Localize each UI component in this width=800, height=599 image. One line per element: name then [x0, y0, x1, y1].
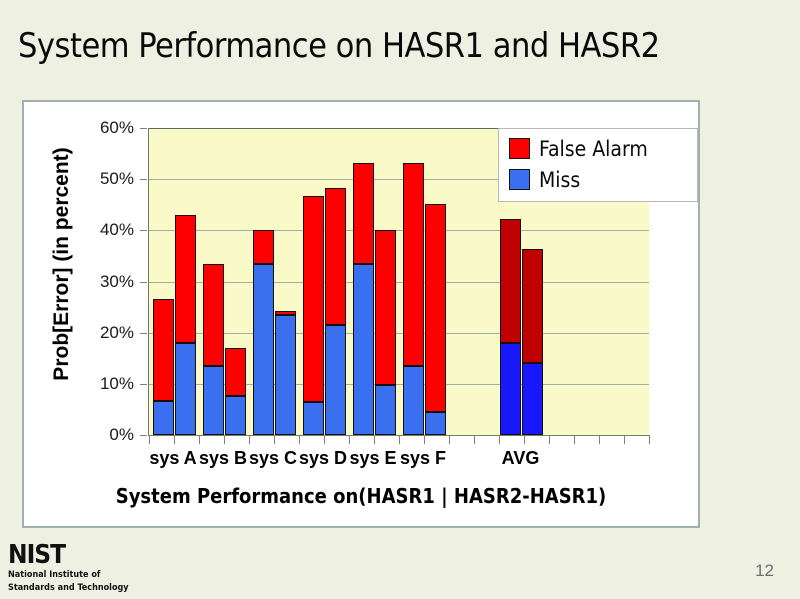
y-tick-mark: [140, 179, 147, 180]
bar[interactable]: [275, 311, 296, 435]
x-tick-label: sys C: [249, 448, 297, 469]
bar[interactable]: [225, 348, 246, 435]
x-tick-mark: [149, 435, 150, 444]
bar-segment-false-alarm: [253, 230, 274, 264]
bar-group: [403, 128, 446, 435]
bar[interactable]: [153, 299, 174, 435]
x-tick-mark: [599, 435, 600, 444]
bar-segment-miss: [375, 385, 396, 435]
bar-segment-false-alarm: [275, 311, 296, 315]
x-tick-mark: [524, 435, 525, 444]
bar[interactable]: [303, 196, 324, 435]
bar-segment-miss: [225, 396, 246, 435]
y-tick-label: 60%: [100, 118, 134, 138]
nist-logo: NIST National Institute of Standards and…: [8, 542, 138, 593]
bar[interactable]: [175, 215, 196, 435]
bar-segment-miss: [203, 366, 224, 435]
y-tick-mark: [140, 435, 147, 436]
legend-label-miss: Miss: [539, 168, 580, 192]
bar-segment-false-alarm: [325, 188, 346, 325]
bar-segment-miss: [353, 264, 374, 435]
y-tick-label: 10%: [100, 374, 134, 394]
x-tick-mark: [224, 435, 225, 444]
bar-group: [303, 128, 346, 435]
bar-segment-miss: [403, 366, 424, 435]
legend-swatch-false-alarm: [509, 138, 530, 159]
y-tick-mark: [140, 128, 147, 129]
bar[interactable]: [353, 163, 374, 435]
x-tick-mark: [649, 435, 650, 444]
bar[interactable]: [403, 163, 424, 435]
bar[interactable]: [425, 204, 446, 435]
bar-segment-miss: [175, 343, 196, 435]
x-tick-mark: [174, 435, 175, 444]
x-tick-mark: [574, 435, 575, 444]
bar-segment-miss: [325, 325, 346, 435]
bar-segment-false-alarm: [403, 163, 424, 367]
x-tick-mark: [374, 435, 375, 444]
y-tick-mark: [140, 230, 147, 231]
x-axis-title: System Performance on(HASR1 | HASR2-HASR…: [24, 484, 698, 508]
bar-segment-false-alarm: [203, 264, 224, 367]
y-tick-label: 30%: [100, 272, 134, 292]
bar-segment-false-alarm: [175, 215, 196, 343]
bar-segment-miss: [500, 343, 521, 435]
bar[interactable]: [325, 188, 346, 435]
y-tick-label: 50%: [100, 169, 134, 189]
page-number: 12: [755, 561, 774, 581]
bar-group: [253, 128, 296, 435]
x-tick-mark: [399, 435, 400, 444]
bar-segment-miss: [253, 264, 274, 435]
bar-segment-miss: [425, 412, 446, 435]
x-tick-mark: [624, 435, 625, 444]
bar-group: [203, 128, 246, 435]
bar-group: [153, 128, 196, 435]
bar[interactable]: [375, 230, 396, 435]
nist-logo-subtitle-line1: National Institute of: [8, 570, 138, 580]
nist-logo-wordmark: NIST: [8, 542, 138, 568]
x-tick-mark: [424, 435, 425, 444]
x-tick-label: AVG: [502, 448, 540, 469]
bar-segment-false-alarm: [500, 219, 521, 344]
y-tick-mark: [140, 333, 147, 334]
legend-item-false-alarm: False Alarm: [509, 133, 691, 164]
legend-swatch-miss: [509, 169, 530, 190]
bar-group: [353, 128, 396, 435]
legend-label-false-alarm: False Alarm: [539, 137, 648, 161]
bar[interactable]: [253, 230, 274, 435]
bar-segment-false-alarm: [522, 249, 543, 363]
x-tick-mark: [299, 435, 300, 444]
x-tick-mark: [249, 435, 250, 444]
nist-logo-subtitle-line2: Standards and Technology: [8, 583, 138, 593]
bar-segment-miss: [303, 402, 324, 435]
x-tick-label: sys A: [149, 448, 196, 469]
bar-segment-false-alarm: [353, 163, 374, 264]
x-tick-mark: [499, 435, 500, 444]
y-tick-mark: [140, 282, 147, 283]
x-tick-label: sys F: [400, 448, 446, 469]
bar[interactable]: [522, 249, 543, 435]
legend-item-miss: Miss: [509, 164, 691, 195]
bar-segment-miss: [522, 363, 543, 435]
x-tick-mark: [199, 435, 200, 444]
bar-segment-false-alarm: [153, 299, 174, 401]
y-tick-label: 40%: [100, 220, 134, 240]
y-axis-ticks: 0%10%20%30%40%50%60%: [84, 102, 140, 526]
x-tick-mark: [324, 435, 325, 444]
bar-segment-false-alarm: [425, 204, 446, 412]
y-tick-mark: [140, 384, 147, 385]
chart-legend: False Alarm Miss: [498, 128, 698, 202]
bar-segment-false-alarm: [375, 230, 396, 385]
x-tick-mark: [549, 435, 550, 444]
x-tick-mark: [449, 435, 450, 444]
x-tick-label: sys D: [299, 448, 347, 469]
bar[interactable]: [500, 219, 521, 435]
bar-segment-miss: [275, 315, 296, 435]
bar-segment-miss: [153, 401, 174, 435]
y-tick-label: 0%: [109, 425, 134, 445]
x-tick-label: sys E: [349, 448, 396, 469]
x-tick-mark: [274, 435, 275, 444]
y-axis-title: Prob[Error] (in percent): [50, 134, 74, 394]
chart-container: Prob[Error] (in percent) 0%10%20%30%40%5…: [22, 100, 700, 528]
x-axis-ticks: [149, 435, 649, 445]
x-tick-label: sys B: [199, 448, 247, 469]
bar[interactable]: [203, 264, 224, 435]
y-tick-label: 20%: [100, 323, 134, 343]
x-tick-mark: [474, 435, 475, 444]
bar-segment-false-alarm: [225, 348, 246, 396]
page-title: System Performance on HASR1 and HASR2: [18, 26, 782, 66]
bar-segment-false-alarm: [303, 196, 324, 402]
x-tick-mark: [349, 435, 350, 444]
